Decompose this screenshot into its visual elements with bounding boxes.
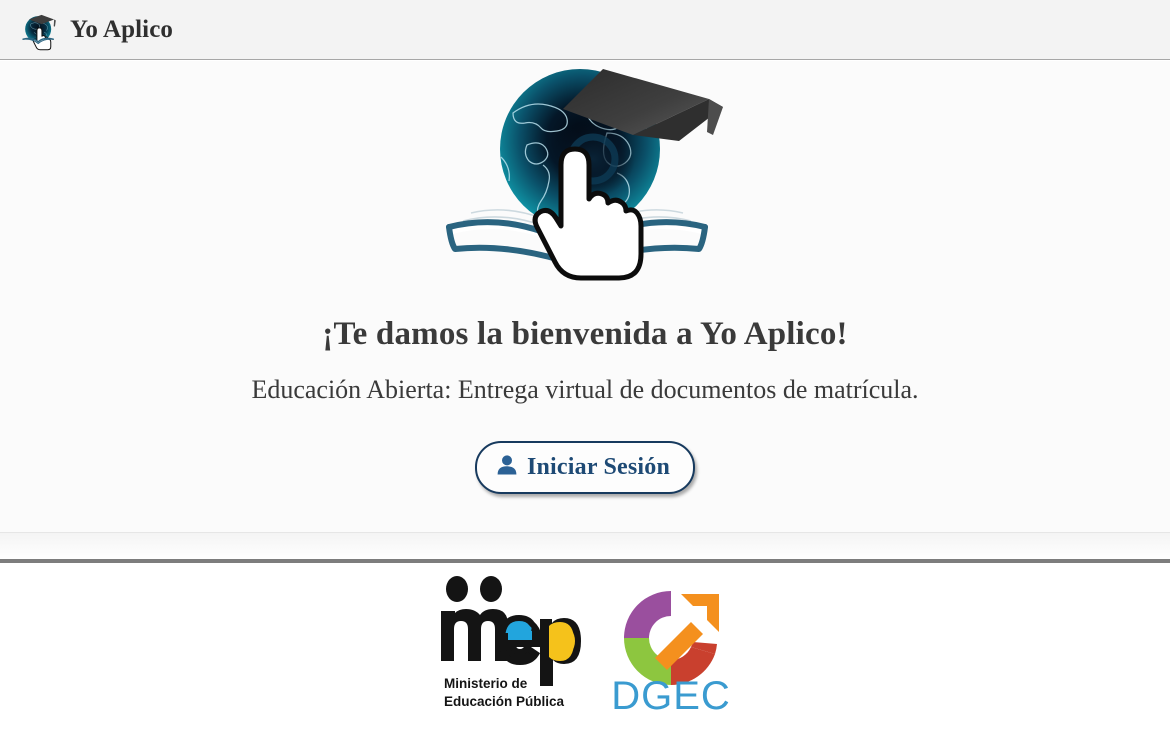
dgec-circular-arrow-logo-icon: DGEC [609, 583, 734, 718]
page-root: Yo Aplico [0, 0, 1170, 740]
person-icon [496, 453, 518, 481]
globe-graduation-cap-book-logo-icon [18, 9, 60, 51]
mep-ministry-logo-icon [436, 576, 591, 691]
login-button-label: Iniciar Sesión [527, 454, 670, 481]
page-subtitle: Educación Abierta: Entrega virtual de do… [0, 375, 1170, 405]
mep-subtitle-line2: Educación Pública [444, 693, 599, 711]
dgec-label: DGEC [611, 674, 731, 718]
brand-link[interactable]: Yo Aplico [18, 9, 173, 51]
mep-logo: Ministerio de Educación Pública [436, 576, 591, 727]
dgec-logo: DGEC [609, 583, 734, 720]
footer: Ministerio de Educación Pública [0, 563, 1170, 740]
login-button[interactable]: Iniciar Sesión [475, 441, 695, 494]
login-button-container: Iniciar Sesión [0, 441, 1170, 494]
mep-subtitle-line1: Ministerio de [444, 675, 599, 693]
navbar: Yo Aplico [0, 0, 1170, 60]
brand-title: Yo Aplico [70, 16, 173, 44]
page-title: ¡Te damos la bienvenida a Yo Aplico! [0, 316, 1170, 353]
hero-section: ¡Te damos la bienvenida a Yo Aplico! Edu… [0, 61, 1170, 533]
hero-illustration [435, 61, 735, 293]
hero-divider-fade [0, 533, 1170, 559]
